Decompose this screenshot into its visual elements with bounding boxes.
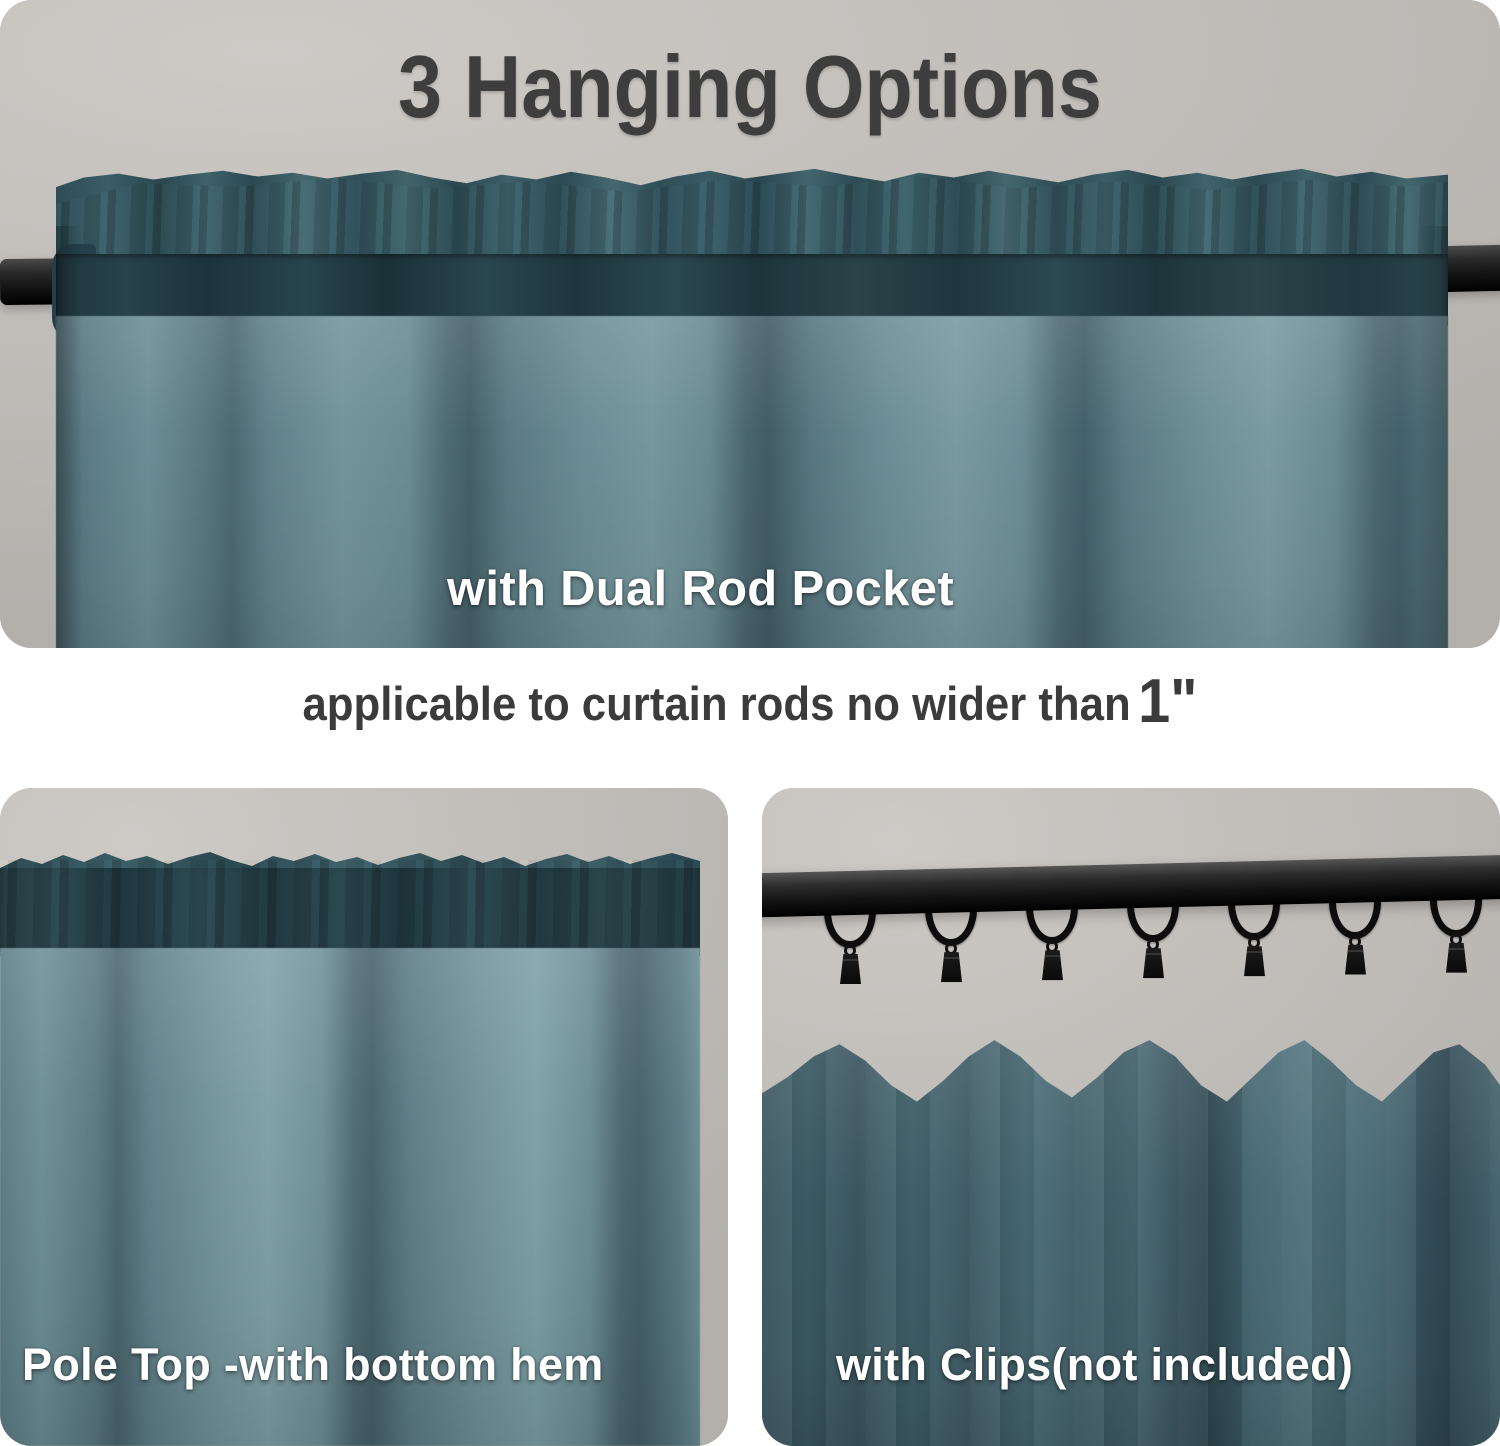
- fabric-clip-icon: [1244, 946, 1265, 976]
- pole-top-caption: Pole Top -with bottom hem: [22, 1339, 604, 1391]
- curtain-left-edge-shadow: [56, 226, 82, 648]
- dual-rod-pocket-caption: with Dual Rod Pocket: [447, 561, 954, 617]
- curtain-right-edge-shadow: [1418, 226, 1448, 648]
- fabric-clip-icon: [1143, 948, 1164, 978]
- fabric-clip-icon: [1446, 943, 1467, 973]
- rod-width-note: applicable to curtain rods no wider than…: [53, 666, 1448, 737]
- page-title: 3 Hanging Options: [75, 36, 1425, 138]
- clips-caption: with Clips(not included): [836, 1339, 1353, 1391]
- product-infographic: with Dual Rod Pocket 3 Hanging Options a…: [0, 0, 1500, 1446]
- rod-width-measurement: 1": [1138, 667, 1197, 736]
- fabric-clip-icon: [840, 954, 861, 984]
- rod-width-note-text: applicable to curtain rods no wider than: [302, 677, 1130, 730]
- fabric-gather-creases: [0, 860, 700, 960]
- fabric-clip-icon: [941, 952, 962, 982]
- fabric-clip-icon: [1345, 945, 1366, 975]
- fabric-clip-icon: [1042, 950, 1063, 980]
